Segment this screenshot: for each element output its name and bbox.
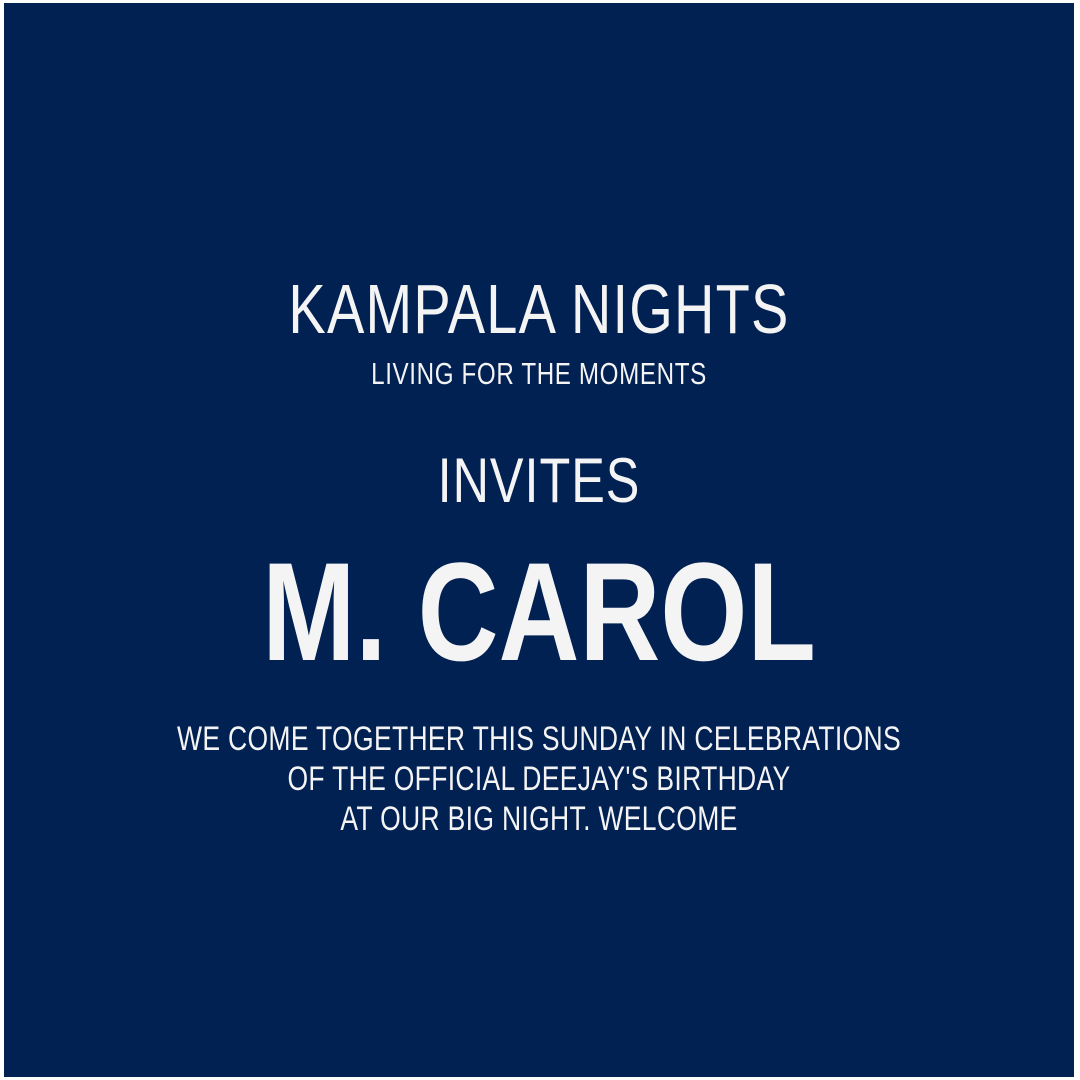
card-background-panel: KAMPALA NIGHTS LIVING FOR THE MOMENTS IN… bbox=[4, 3, 1074, 1077]
brand-tagline: LIVING FOR THE MOMENTS bbox=[122, 358, 957, 389]
invitation-card: KAMPALA NIGHTS LIVING FOR THE MOMENTS IN… bbox=[0, 0, 1080, 1080]
invites-label: INVITES bbox=[111, 450, 967, 513]
message-line: OF THE OFFICIAL DEEJAY'S BIRTHDAY bbox=[122, 759, 957, 799]
message-line: WE COME TOGETHER THIS SUNDAY IN CELEBRAT… bbox=[122, 719, 957, 759]
brand-title: KAMPALA NIGHTS bbox=[111, 274, 967, 344]
message-line: AT OUR BIG NIGHT. WELCOME bbox=[122, 799, 957, 839]
message-block: WE COME TOGETHER THIS SUNDAY IN CELEBRAT… bbox=[4, 719, 1074, 839]
honoree-name: M. CAROL bbox=[111, 542, 967, 682]
